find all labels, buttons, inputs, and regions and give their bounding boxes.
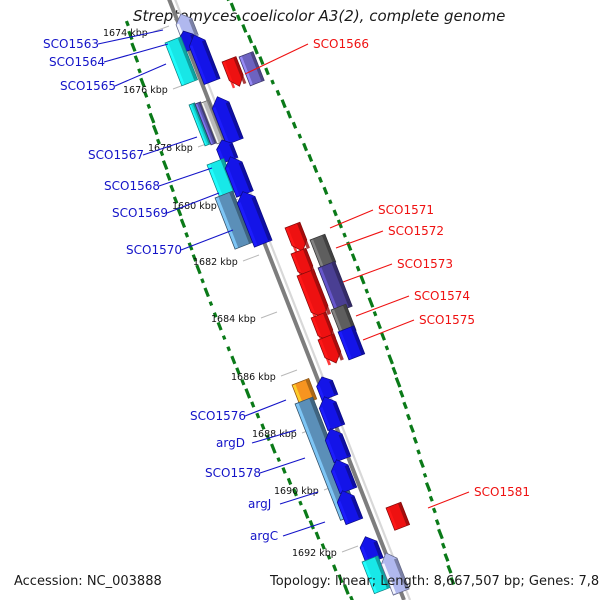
gene-label-sco1568[interactable]: SCO1568	[104, 179, 160, 193]
gc-dash-mark	[260, 57, 263, 65]
genome-backbone[interactable]	[167, 0, 410, 600]
gc-dash-mark	[319, 177, 321, 182]
gc-dash-mark	[305, 510, 308, 519]
gc-dash-mark	[393, 367, 396, 374]
gc-dash-mark	[361, 276, 364, 284]
gc-dash-mark	[278, 458, 279, 462]
genome-viewer: Streptomyces coelicolor A3(2), complete …	[0, 0, 600, 600]
ruler-tick-label: 1684 kbp	[211, 314, 256, 325]
gene-label-sco1581[interactable]: SCO1581	[474, 485, 530, 499]
gc-dash-mark	[202, 279, 204, 283]
gene-glyph[interactable]	[386, 502, 410, 530]
gc-dash-mark	[352, 254, 355, 261]
gene-label-sco1575[interactable]: SCO1575	[419, 313, 475, 327]
gc-dash-mark	[252, 402, 254, 407]
gc-dash-mark	[163, 161, 166, 170]
genome-map-canvas[interactable]: Streptomyces coelicolor A3(2), complete …	[0, 0, 600, 600]
gc-dash-mark	[237, 15, 239, 21]
gc-dash-mark	[330, 200, 331, 204]
gene-label-sco1576[interactable]: SCO1576	[190, 409, 246, 423]
gc-dash-mark	[205, 288, 208, 297]
gc-dash-mark	[369, 298, 373, 308]
gc-dash-mark	[293, 122, 295, 128]
ruler-tick-label: 1682 kbp	[193, 257, 238, 268]
gc-dash-mark	[404, 402, 407, 408]
gc-dash-mark	[351, 596, 354, 600]
gc-dash-mark	[249, 35, 252, 43]
gene-label-sco1565[interactable]: SCO1565	[60, 79, 116, 93]
gc-dash-mark	[135, 56, 137, 62]
gc-dash-mark	[389, 355, 393, 364]
gc-dash-mark	[309, 154, 312, 161]
gc-dash-mark	[126, 21, 128, 26]
gc-dash-mark	[426, 483, 429, 492]
ruler-tick-label: 1692 kbp	[292, 548, 337, 559]
ruler-tick-label: 1676 kbp	[123, 85, 168, 96]
gc-dash-mark	[186, 233, 188, 238]
gene-label-sco1574[interactable]: SCO1574	[414, 289, 470, 303]
gene-label-leader	[363, 320, 414, 340]
ruler-tick-label: 1688 kbp	[252, 429, 297, 440]
gc-dash-mark	[448, 565, 451, 573]
gc-dash-mark	[228, 347, 230, 351]
ruler-tick-mark	[261, 312, 277, 318]
ruler-tick-mark	[281, 370, 297, 376]
gc-dash-mark	[181, 219, 184, 227]
gc-dash-mark	[408, 414, 410, 420]
gc-dash-mark	[153, 125, 157, 134]
gc-skew-track	[126, 0, 453, 600]
gene-label-leader	[159, 168, 212, 186]
gc-dash-mark	[445, 554, 448, 561]
gc-dash-mark	[314, 165, 317, 172]
gc-dash-mark	[266, 68, 269, 75]
gc-dash-mark	[424, 473, 425, 477]
gc-dash-mark	[344, 233, 346, 237]
gene-label-argj[interactable]: argJ	[248, 497, 271, 511]
gene-label-sco1578[interactable]: SCO1578	[205, 466, 261, 480]
gc-dash-mark	[310, 521, 313, 529]
gc-dash-mark	[433, 508, 435, 513]
gc-dash-mark	[382, 333, 385, 340]
ruler-tick-label: 1686 kbp	[231, 372, 276, 383]
gc-dash-mark	[374, 312, 376, 316]
gc-dash-mark	[225, 0, 228, 1]
gc-dash-mark	[283, 468, 285, 474]
gc-dash-mark	[304, 143, 307, 150]
gc-dash-mark	[418, 450, 420, 454]
gene-label-leader	[428, 492, 469, 508]
gene-label-leader	[356, 296, 409, 316]
gc-dash-mark	[254, 46, 257, 54]
gene-label-leader	[181, 230, 233, 250]
ruler-tick-mark	[342, 546, 358, 552]
gc-dash-mark	[272, 80, 274, 84]
gc-dash-mark	[334, 565, 336, 571]
gc-dash-mark	[324, 187, 327, 194]
gene-label-leader	[343, 264, 392, 282]
ruler-tick-label: 1678 kbp	[148, 143, 193, 154]
gc-dash-mark	[210, 302, 212, 306]
gene-label-sco1563[interactable]: SCO1563	[43, 37, 99, 51]
gc-dash-mark	[257, 413, 259, 418]
ruler-tick-mark	[243, 255, 259, 261]
gc-dash-mark	[171, 185, 174, 191]
gc-dash-mark	[288, 478, 290, 484]
genome-summary-text: Topology: linear; Length: 8,667,507 bp; …	[269, 574, 600, 589]
gc-dash-mark	[316, 532, 319, 539]
gene-glyph[interactable]	[318, 334, 344, 366]
gc-dash-mark	[246, 389, 250, 398]
gc-dash-mark	[223, 336, 224, 340]
gc-dash-mark	[300, 501, 302, 505]
gene-label-argc[interactable]: argC	[250, 529, 278, 543]
gc-dash-mark	[282, 100, 285, 108]
gene-label-sco1566[interactable]: SCO1566	[313, 37, 369, 51]
gene-label-sco1567[interactable]: SCO1567	[88, 148, 144, 162]
gc-dash-mark	[357, 266, 359, 271]
gene-label-sco1573[interactable]: SCO1573	[397, 257, 453, 271]
gc-dash-mark	[366, 289, 368, 293]
backbone-highlight	[173, 0, 410, 600]
gene-label-sco1569[interactable]: SCO1569	[112, 206, 168, 220]
gc-dash-mark	[378, 322, 381, 329]
gene-label-leader	[283, 522, 325, 536]
gc-dash-mark	[243, 25, 246, 33]
gc-dash-mark	[436, 520, 438, 525]
gc-dash-mark	[167, 173, 170, 180]
gc-dash-mark	[334, 210, 336, 216]
gene-label-argd[interactable]: argD	[216, 436, 245, 450]
gc-dash-mark	[400, 391, 403, 398]
gc-dash-mark	[396, 378, 400, 387]
accession-text: Accession: NC_003888	[14, 574, 162, 589]
gc-dash-mark	[439, 529, 443, 538]
gc-dash-mark	[277, 90, 279, 95]
gc-dash-mark	[148, 104, 150, 108]
gc-dash-mark	[299, 134, 301, 138]
gc-dash-mark	[272, 444, 276, 453]
gene-label-sco1572[interactable]: SCO1572	[388, 224, 444, 238]
ruler-tick-label: 1690 kbp	[274, 486, 319, 497]
gc-dash-mark	[232, 356, 235, 364]
gc-dash-mark	[442, 543, 444, 548]
ruler-tick-label: 1674 kbp	[103, 28, 148, 39]
gc-dash-mark	[139, 69, 141, 73]
gene-label-sco1571[interactable]: SCO1571	[378, 203, 434, 217]
gene-label-sco1564[interactable]: SCO1564	[49, 55, 105, 69]
gc-dash-mark	[411, 425, 414, 432]
gene-label-leader	[115, 64, 166, 86]
gc-dash-mark	[420, 460, 423, 468]
gc-dash-mark	[150, 113, 154, 123]
gc-dash-mark	[386, 346, 388, 350]
gene-label-sco1570[interactable]: SCO1570	[126, 243, 182, 257]
gc-dash-mark	[430, 496, 432, 501]
gc-dash-mark	[132, 43, 135, 51]
gc-dash-mark	[414, 437, 416, 443]
gc-dash-mark	[288, 111, 291, 118]
